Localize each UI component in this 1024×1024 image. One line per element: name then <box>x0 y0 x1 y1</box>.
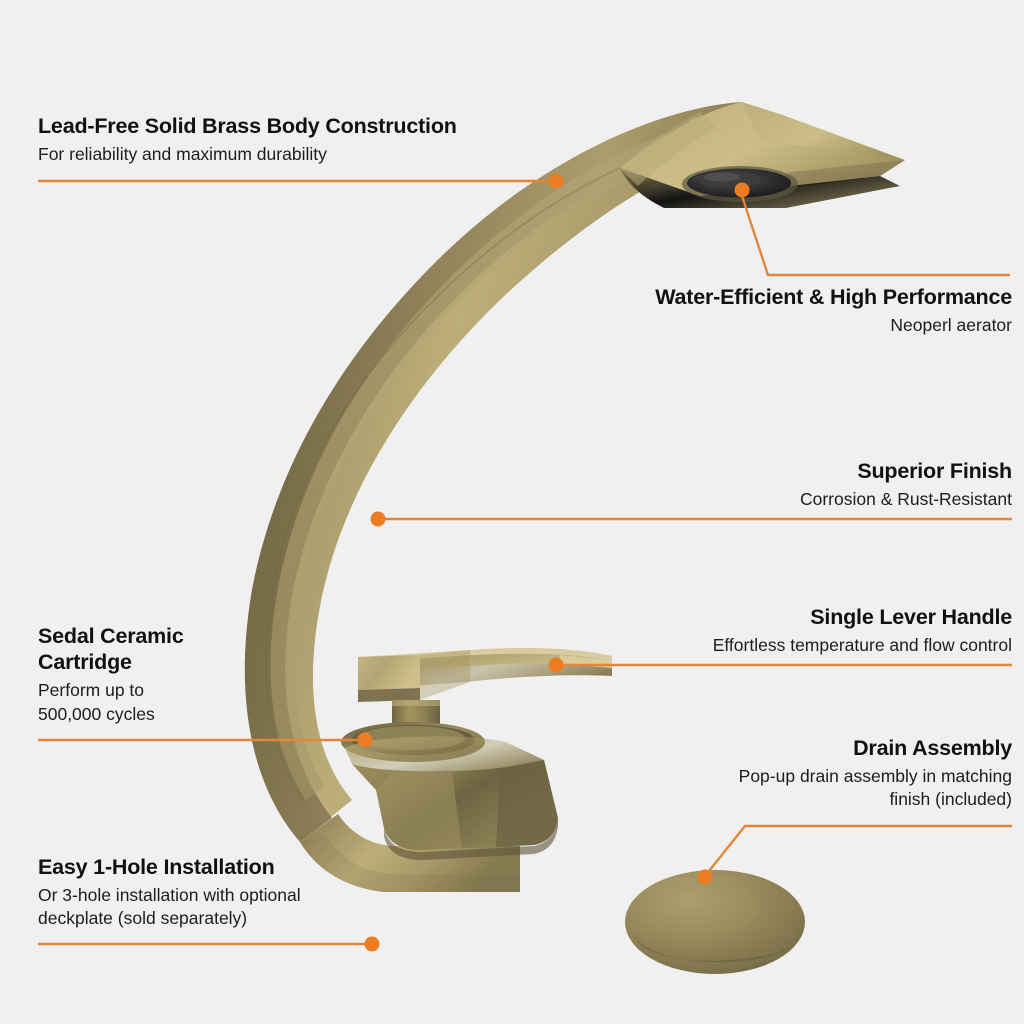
callout-title: Single Lever Handle <box>452 604 1012 630</box>
callout-drain-assembly: Drain Assembly Pop-up drain assembly in … <box>532 735 1012 811</box>
callout-title: Water-Efficient & High Performance <box>452 284 1012 310</box>
callout-subtitle: Neoperl aerator <box>452 314 1012 337</box>
callout-single-lever-handle: Single Lever Handle Effortless temperatu… <box>452 604 1012 657</box>
callout-title: Drain Assembly <box>532 735 1012 761</box>
callout-superior-finish: Superior Finish Corrosion & Rust-Resista… <box>492 458 1012 511</box>
infographic-canvas: Lead-Free Solid Brass Body Construction … <box>0 0 1024 1024</box>
leader-line-water-efficient <box>742 196 1010 275</box>
leader-dot-single-lever-handle <box>549 658 564 673</box>
leader-dot-sedal-cartridge <box>358 733 373 748</box>
callout-subtitle: Or 3-hole installation with optional dec… <box>38 884 458 930</box>
leader-dot-easy-installation <box>365 937 380 952</box>
callout-subtitle: Pop-up drain assembly in matching finish… <box>532 765 1012 811</box>
callout-title: Easy 1-Hole Installation <box>38 854 458 880</box>
callout-subtitle: Perform up to 500,000 cycles <box>38 679 338 725</box>
callout-subtitle: Effortless temperature and flow control <box>452 634 1012 657</box>
leader-line-drain-assembly <box>709 826 1012 871</box>
leader-dot-drain-assembly <box>698 870 713 885</box>
callout-subtitle: For reliability and maximum durability <box>38 143 558 166</box>
callout-lead-free-brass: Lead-Free Solid Brass Body Construction … <box>38 113 558 166</box>
callout-easy-installation: Easy 1-Hole Installation Or 3-hole insta… <box>38 854 458 930</box>
callout-title: Superior Finish <box>492 458 1012 484</box>
leader-dot-water-efficient <box>735 183 750 198</box>
callout-water-efficient: Water-Efficient & High Performance Neope… <box>452 284 1012 337</box>
callout-subtitle: Corrosion & Rust-Resistant <box>492 488 1012 511</box>
callout-title: Lead-Free Solid Brass Body Construction <box>38 113 558 139</box>
leader-dot-lead-free-brass <box>549 174 564 189</box>
callout-title: Sedal Ceramic Cartridge <box>38 623 338 675</box>
leader-dot-superior-finish <box>371 512 386 527</box>
callout-sedal-cartridge: Sedal Ceramic Cartridge Perform up to 50… <box>38 623 338 726</box>
